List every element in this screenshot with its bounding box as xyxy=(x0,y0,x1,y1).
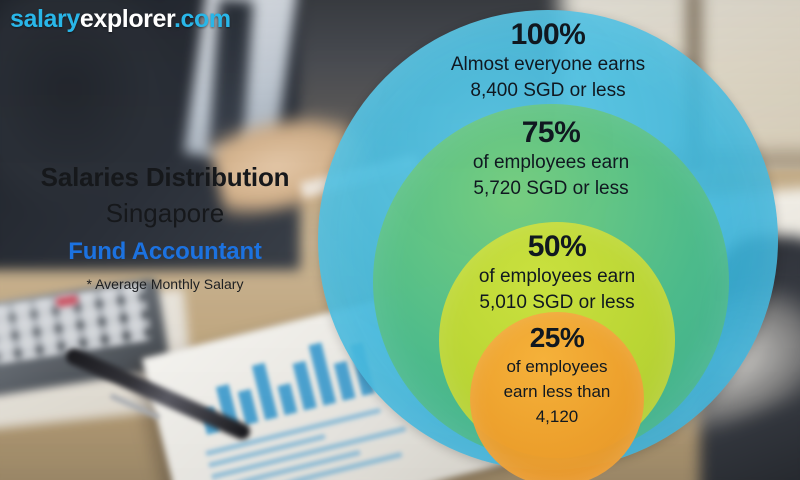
percentile-value-50: 50% xyxy=(409,230,705,264)
percentile-line2-100: 8,400 SGD or less xyxy=(318,78,778,104)
logo-part-salary: salary xyxy=(10,5,80,33)
salary-note: * Average Monthly Salary xyxy=(0,272,330,296)
percentile-line2-25: earn less than xyxy=(452,379,662,404)
percentile-line2-75: 5,720 SGD or less xyxy=(373,176,729,202)
percentile-line1-75: of employees earn xyxy=(373,150,729,176)
page-title: Salaries Distribution xyxy=(0,160,330,194)
percentile-text-50: 50% of employees earn 5,010 SGD or less xyxy=(409,230,705,316)
country-label: Singapore xyxy=(0,194,330,232)
caption-panel: Salaries Distribution Singapore Fund Acc… xyxy=(0,160,330,296)
percentile-line1-50: of employees earn xyxy=(409,264,705,290)
logo-part-domain: .com xyxy=(174,5,231,33)
percentile-line1-25: of employees xyxy=(452,354,662,379)
percentile-value-100: 100% xyxy=(318,18,778,52)
percentile-value-25: 25% xyxy=(452,322,662,354)
percentile-text-25: 25% of employees earn less than 4,120 xyxy=(452,322,662,429)
infographic-canvas: salaryexplorer.com Salaries Distribution… xyxy=(0,0,800,480)
job-title-label: Fund Accountant xyxy=(0,232,330,272)
percentile-text-100: 100% Almost everyone earns 8,400 SGD or … xyxy=(318,18,778,104)
percentile-line1-100: Almost everyone earns xyxy=(318,52,778,78)
percentile-line3-25: 4,120 xyxy=(452,404,662,429)
logo-part-explorer: explorer xyxy=(80,5,174,33)
percentile-circle-25: 25% of employees earn less than 4,120 xyxy=(470,312,644,480)
site-logo[interactable]: salaryexplorer.com xyxy=(10,4,231,34)
percentile-text-75: 75% of employees earn 5,720 SGD or less xyxy=(373,116,729,202)
percentile-value-75: 75% xyxy=(373,116,729,150)
